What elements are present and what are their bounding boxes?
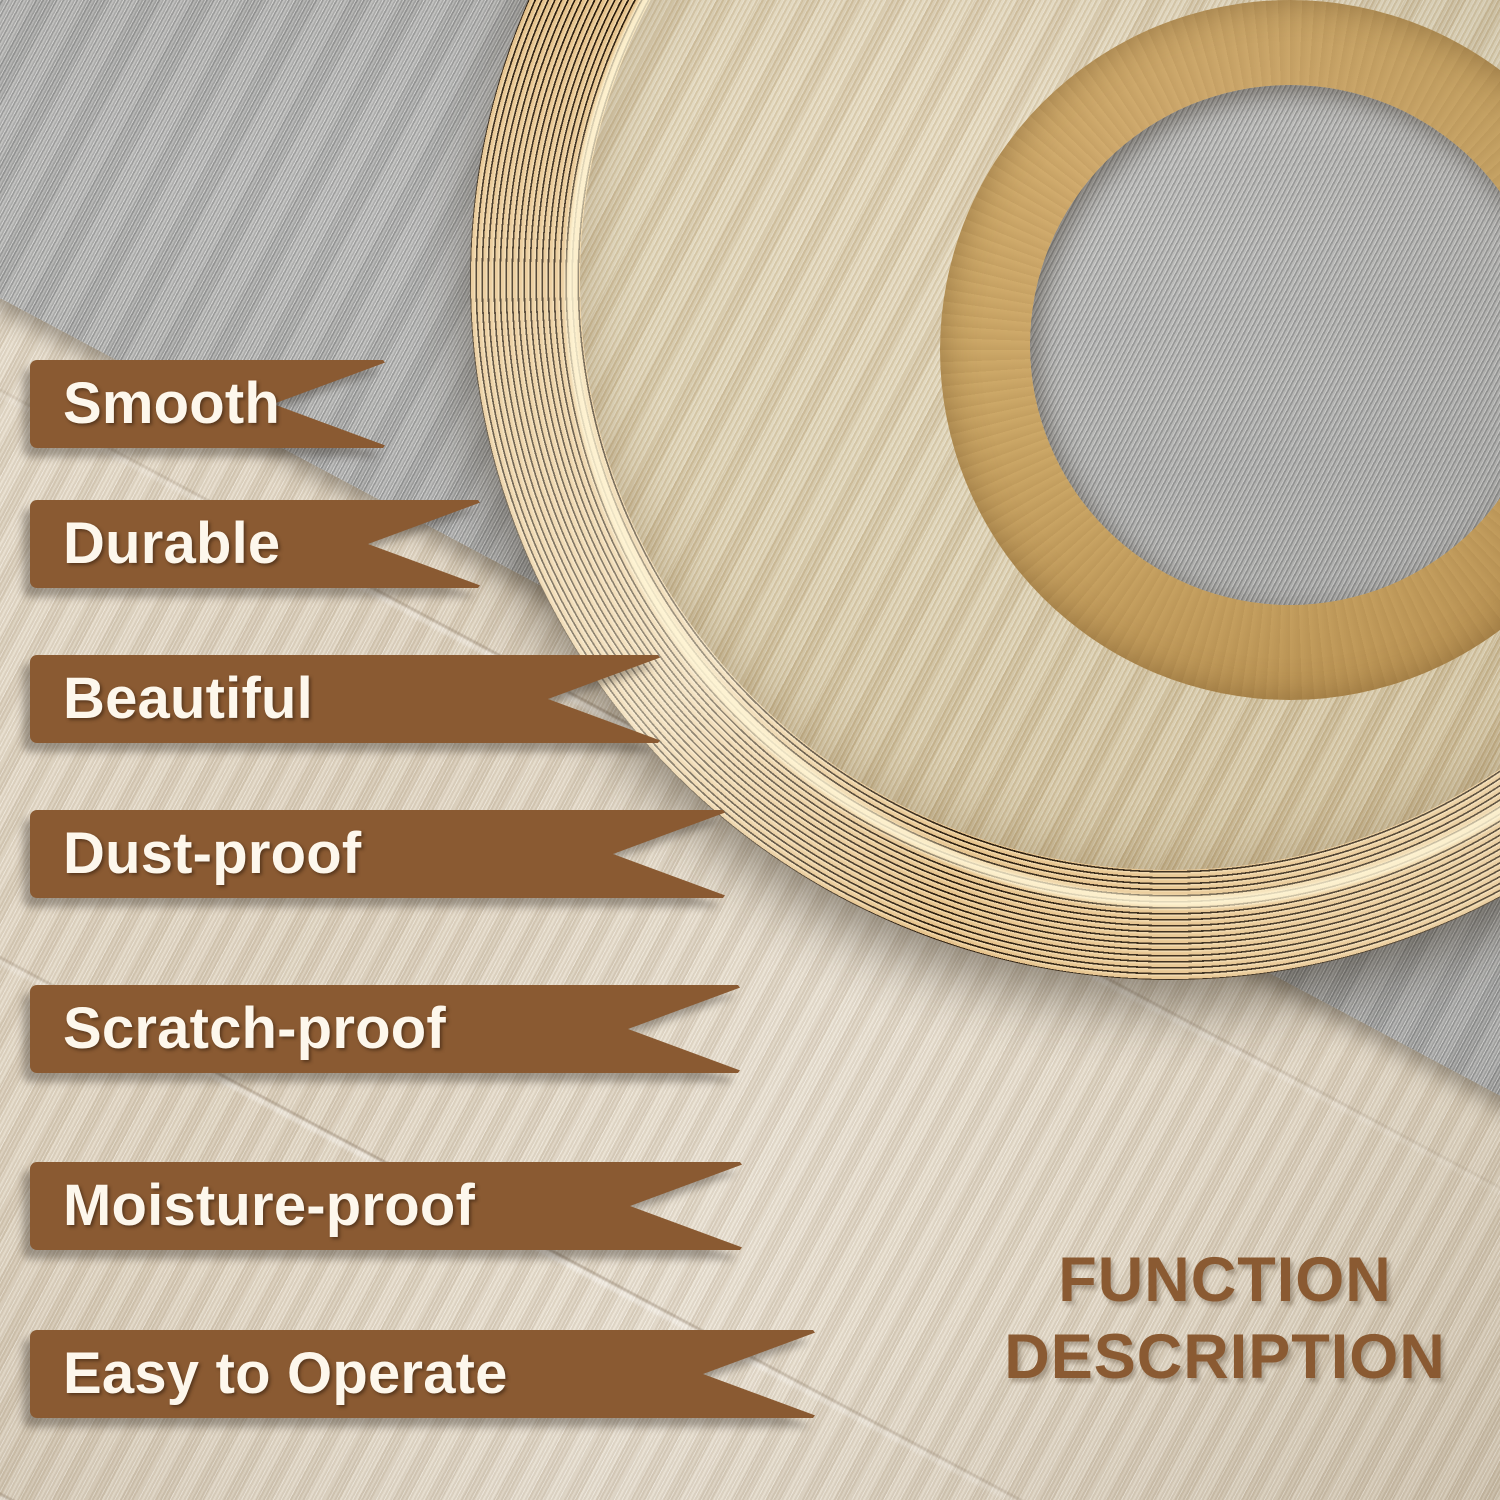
- feature-label: Dust-proof: [30, 825, 361, 883]
- feature-banner-smooth: Smooth: [30, 360, 385, 448]
- feature-label: Durable: [30, 515, 280, 573]
- function-description-heading: FUNCTION DESCRIPTION: [975, 1242, 1475, 1396]
- feature-label: Smooth: [30, 375, 280, 433]
- feature-banner-dust-proof: Dust-proof: [30, 810, 725, 898]
- heading-line-1: FUNCTION: [1058, 1245, 1391, 1315]
- feature-banner-easy-to-operate: Easy to Operate: [30, 1330, 815, 1418]
- feature-banner-durable: Durable: [30, 500, 480, 588]
- feature-label: Scratch-proof: [30, 1000, 446, 1058]
- feature-banner-beautiful: Beautiful: [30, 655, 660, 743]
- feature-label: Moisture-proof: [30, 1177, 475, 1235]
- feature-label: Beautiful: [30, 670, 313, 728]
- feature-label: Easy to Operate: [30, 1345, 508, 1403]
- feature-banner-list: Smooth Durable Beautiful Dust-proof Scra…: [0, 0, 900, 1500]
- feature-banner-scratch-proof: Scratch-proof: [30, 985, 740, 1073]
- feature-banner-moisture-proof: Moisture-proof: [30, 1162, 742, 1250]
- heading-line-2: DESCRIPTION: [975, 1319, 1475, 1396]
- product-infographic: Smooth Durable Beautiful Dust-proof Scra…: [0, 0, 1500, 1500]
